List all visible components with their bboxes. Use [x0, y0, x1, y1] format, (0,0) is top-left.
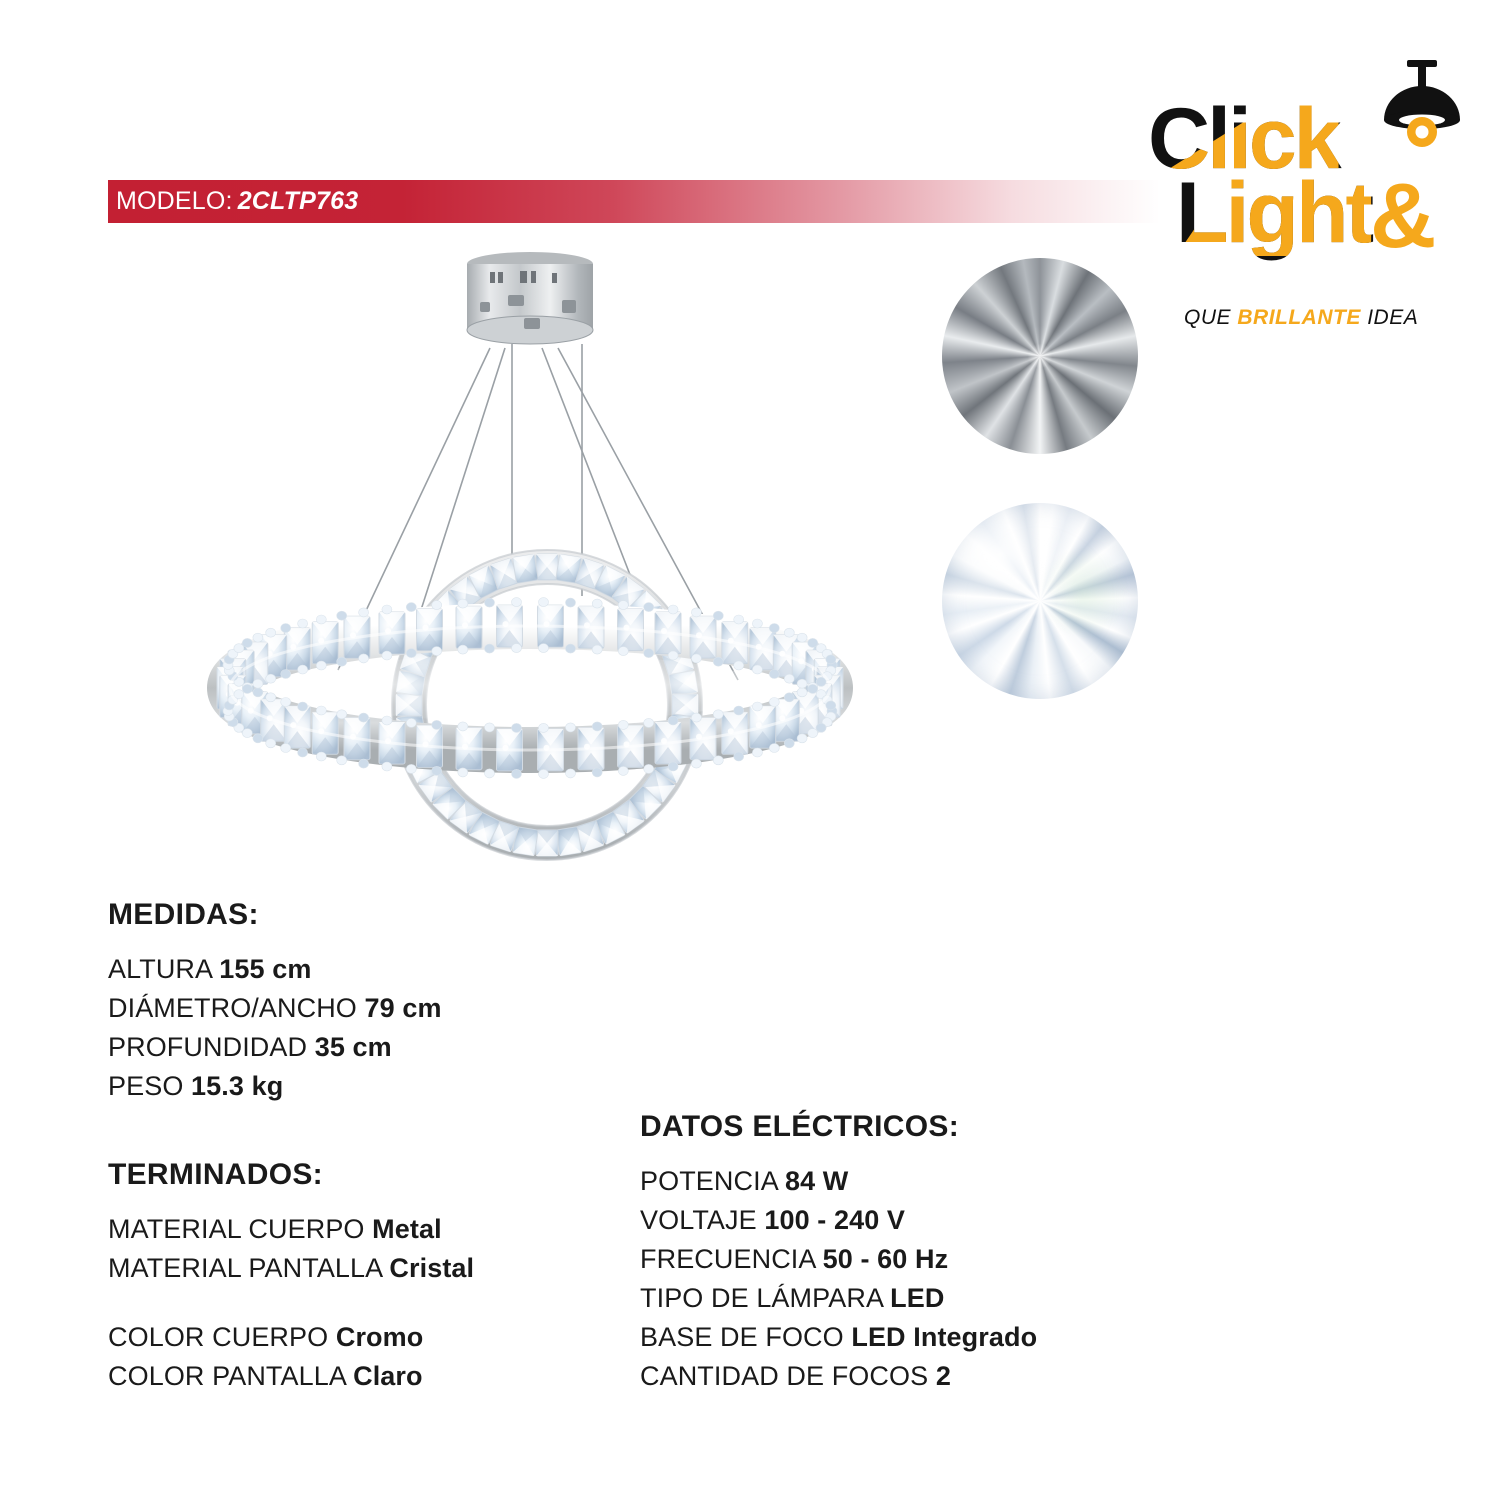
measurements-block: MEDIDAS: ALTURA 155 cm DIÁMETRO/ANCHO 79…	[108, 898, 442, 1106]
model-banner-text: MODELO:2CLTP763	[108, 187, 358, 216]
spec-label: POTENCIA	[640, 1166, 777, 1196]
spec-row: PROFUNDIDAD 35 cm	[108, 1028, 442, 1067]
crystal-ring-chandelier-image	[190, 240, 870, 900]
spec-value: 50 - 60 Hz	[823, 1244, 949, 1274]
spec-row: MATERIAL CUERPO Metal	[108, 1210, 474, 1249]
spec-label: DIÁMETRO/ANCHO	[108, 993, 357, 1023]
logo-tagline: QUE BRILLANTE IDEA	[1184, 306, 1418, 330]
spec-value: Claro	[353, 1361, 423, 1391]
logo-ampersand: &	[1370, 170, 1436, 262]
logo-wordmark: Click Click Light Light &	[1148, 96, 1448, 296]
logo-word-light: Light Light	[1176, 170, 1371, 256]
spec-label: BASE DE FOCO	[640, 1322, 844, 1352]
spec-label: PESO	[108, 1071, 183, 1101]
tagline-pre: QUE	[1184, 306, 1231, 329]
spec-row: POTENCIA 84 W	[640, 1162, 1037, 1201]
model-banner: MODELO:2CLTP763	[108, 180, 1160, 223]
electrical-data-block: DATOS ELÉCTRICOS: POTENCIA 84 W VOLTAJE …	[640, 1110, 1037, 1396]
spec-value: 15.3 kg	[191, 1071, 283, 1101]
spec-label: CANTIDAD DE FOCOS	[640, 1361, 928, 1391]
spec-label: COLOR PANTALLA	[108, 1361, 345, 1391]
spec-row: COLOR PANTALLA Claro	[108, 1357, 474, 1396]
spec-label: VOLTAJE	[640, 1205, 757, 1235]
crystal-finish-swatch	[942, 503, 1138, 699]
electrical-data-heading: DATOS ELÉCTRICOS:	[640, 1110, 1037, 1144]
spec-row: MATERIAL PANTALLA Cristal	[108, 1249, 474, 1288]
spec-label: TIPO DE LÁMPARA	[640, 1283, 883, 1313]
measurements-heading: MEDIDAS:	[108, 898, 442, 932]
spec-label: MATERIAL PANTALLA	[108, 1253, 382, 1283]
led-glow	[294, 654, 766, 722]
spec-label: PROFUNDIDAD	[108, 1032, 307, 1062]
chrome-finish-swatch	[942, 258, 1138, 454]
spec-label: FRECUENCIA	[640, 1244, 815, 1274]
spec-row: DIÁMETRO/ANCHO 79 cm	[108, 989, 442, 1028]
model-label: MODELO:	[116, 187, 233, 215]
spec-value: 35 cm	[315, 1032, 392, 1062]
spec-value: LED Integrado	[851, 1322, 1037, 1352]
spec-value: 2	[936, 1361, 951, 1391]
spec-row: FRECUENCIA 50 - 60 Hz	[640, 1240, 1037, 1279]
spec-value: Cromo	[336, 1322, 424, 1352]
spec-row: BASE DE FOCO LED Integrado	[640, 1318, 1037, 1357]
ceiling-canopy	[467, 252, 593, 344]
spec-label: ALTURA	[108, 954, 212, 984]
spec-label: MATERIAL CUERPO	[108, 1214, 365, 1244]
spec-row: COLOR CUERPO Cromo	[108, 1318, 474, 1357]
finishes-heading: TERMINADOS:	[108, 1158, 474, 1192]
spec-value: 84 W	[785, 1166, 848, 1196]
model-number: 2CLTP763	[238, 187, 359, 215]
spec-row: VOLTAJE 100 - 240 V	[640, 1201, 1037, 1240]
spacer	[108, 1288, 474, 1318]
tagline-highlight: BRILLANTE	[1237, 306, 1361, 329]
spec-value: 155 cm	[219, 954, 311, 984]
spec-row: TIPO DE LÁMPARA LED	[640, 1279, 1037, 1318]
spec-value: Metal	[372, 1214, 442, 1244]
spec-row: PESO 15.3 kg	[108, 1067, 442, 1106]
spec-value: 100 - 240 V	[764, 1205, 905, 1235]
spec-value: 79 cm	[365, 993, 442, 1023]
tagline-post: IDEA	[1367, 306, 1418, 329]
brand-logo: Click Click Light Light & QUE BRILLANTE …	[1148, 58, 1466, 338]
finishes-block: TERMINADOS: MATERIAL CUERPO Metal MATERI…	[108, 1158, 474, 1396]
spec-row: ALTURA 155 cm	[108, 950, 442, 989]
spec-label: COLOR CUERPO	[108, 1322, 328, 1352]
spec-value: Cristal	[389, 1253, 474, 1283]
spec-row: CANTIDAD DE FOCOS 2	[640, 1357, 1037, 1396]
spec-value: LED	[890, 1283, 944, 1313]
